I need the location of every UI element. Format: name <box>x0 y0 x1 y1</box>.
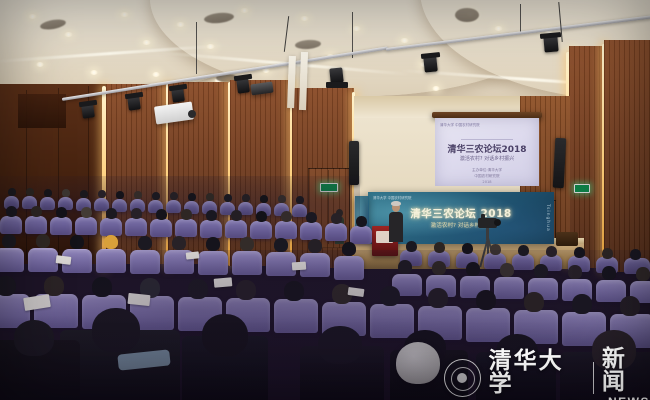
audience-head <box>156 209 167 220</box>
truss-hanger-rope <box>196 22 197 74</box>
handout-paper <box>214 277 233 288</box>
audience-head <box>500 263 514 277</box>
audience-head <box>70 235 84 249</box>
audience-head <box>236 280 256 300</box>
seat <box>166 200 181 213</box>
downlight <box>142 40 151 45</box>
exit-sign-icon <box>320 183 338 192</box>
audience-head <box>104 235 118 249</box>
audience-foreground-head <box>14 320 54 356</box>
audience-head <box>26 188 34 196</box>
handout-paper <box>56 255 72 265</box>
audience-head <box>602 248 613 259</box>
downlight <box>206 44 215 49</box>
seat <box>40 197 55 210</box>
audience-head <box>92 277 112 297</box>
seat <box>0 248 24 272</box>
audience-head <box>240 237 254 251</box>
seat <box>50 217 72 235</box>
audience-head <box>188 193 196 201</box>
projector-lens-icon <box>188 110 196 118</box>
audience-head <box>81 207 92 218</box>
audience-white-hood <box>396 342 440 384</box>
seat <box>350 226 372 244</box>
seat <box>75 217 97 235</box>
screen-subtitle: 激活农村? 对话乡村振兴 <box>435 155 539 162</box>
downlight <box>352 26 361 31</box>
audience-foreground-head <box>592 330 636 370</box>
audience-head <box>380 286 400 306</box>
audience-head <box>224 194 232 202</box>
audience-head <box>432 261 446 275</box>
seat <box>175 219 197 237</box>
audience-head <box>256 211 267 222</box>
audience-head <box>8 188 16 196</box>
audience-head <box>106 208 117 219</box>
downlight <box>120 12 129 17</box>
video-camera-lens-icon <box>494 219 501 226</box>
pa-speaker <box>349 141 359 185</box>
audience-head <box>296 196 304 204</box>
ceiling-vent <box>455 8 479 22</box>
audience-head <box>574 247 585 258</box>
audience-head <box>524 292 544 312</box>
downlight <box>176 22 185 27</box>
audience-head <box>44 276 64 296</box>
handout-paper <box>127 293 150 306</box>
audience-head <box>534 264 548 278</box>
downlight <box>300 16 309 21</box>
audience-head <box>636 267 650 281</box>
audience-head <box>31 206 42 217</box>
seat <box>250 221 272 239</box>
audience-head <box>138 236 152 250</box>
spotlight-barndoor <box>326 82 348 88</box>
seat <box>300 222 322 240</box>
audience-head <box>172 236 186 250</box>
audience-foreground-head <box>92 308 140 352</box>
audience-head <box>188 279 208 299</box>
audience-head <box>170 192 178 200</box>
screen-rule <box>461 139 513 140</box>
downlight <box>28 14 37 19</box>
seat <box>25 216 47 234</box>
seat <box>130 250 160 274</box>
audience-head <box>342 242 356 256</box>
audience-head <box>98 190 106 198</box>
audience-head <box>242 194 250 202</box>
audience-head <box>398 260 412 274</box>
exit-sign-icon <box>574 184 590 193</box>
audience-head <box>0 276 16 296</box>
seat <box>100 218 122 236</box>
screen-footer-line-1: 主办单位:清华大学 <box>435 168 539 173</box>
audience-head <box>434 242 445 253</box>
seat <box>0 216 22 234</box>
audience-head <box>331 213 342 224</box>
seat <box>325 223 347 241</box>
audience-head <box>62 189 70 197</box>
audience-head <box>36 234 50 248</box>
screen-footer-line-2: 中国农村研究院 <box>435 174 539 179</box>
audience-head <box>56 207 67 218</box>
audience-head <box>428 288 448 308</box>
audience-head <box>568 265 582 279</box>
audience-head <box>620 296 640 316</box>
audience-head <box>308 239 322 253</box>
audience-head <box>131 208 142 219</box>
audience-head <box>152 192 160 200</box>
downlight <box>64 32 73 37</box>
seat <box>494 277 524 299</box>
audience-head <box>274 238 288 252</box>
audience-head <box>80 190 88 198</box>
audience-head <box>476 290 496 310</box>
auditorium-photo: 清华大学 中国农村研究院 清华三农论坛2018 激活农村? 对话乡村振兴 主办单… <box>0 0 650 400</box>
seat <box>334 256 364 280</box>
downlight <box>432 86 440 91</box>
audience-head <box>44 189 52 197</box>
seat <box>275 221 297 239</box>
banner-logo-text: 清华大学 中国农村研究院 <box>373 195 411 200</box>
downlight <box>152 72 160 77</box>
screen-corner-text: 清华大学 中国农村研究院 <box>440 123 480 128</box>
downlight <box>240 8 249 13</box>
seat <box>274 299 318 333</box>
speaker-body <box>389 212 403 242</box>
audience-foreground-head <box>496 334 538 370</box>
downlight <box>36 62 44 67</box>
seat <box>150 219 172 237</box>
audience-head <box>2 234 16 248</box>
truss-hanger-rope <box>520 4 521 34</box>
handout-paper <box>186 251 200 259</box>
seat <box>96 249 126 273</box>
seat <box>292 204 307 217</box>
audience-head <box>116 191 124 199</box>
wall-wood-panel <box>604 40 650 272</box>
audience-head <box>260 195 268 203</box>
seat <box>200 220 222 238</box>
seat <box>198 251 228 275</box>
audience-head <box>572 294 592 314</box>
audience-head <box>466 262 480 276</box>
audience-head <box>490 244 501 255</box>
tripod-column <box>486 228 489 240</box>
audience-head <box>306 212 317 223</box>
wall-recess-left <box>18 94 66 128</box>
handout-paper <box>292 262 307 271</box>
audience-head <box>630 249 641 260</box>
audience-head <box>278 195 286 203</box>
video-camera-viewfinder <box>481 214 485 219</box>
seat <box>512 254 534 270</box>
seat <box>125 218 147 236</box>
audience-head <box>6 206 17 217</box>
audience-head <box>602 266 616 280</box>
audience-head <box>134 191 142 199</box>
seat <box>28 248 58 272</box>
screen-footer-line-3: 2018 <box>435 180 539 184</box>
audience-head <box>281 211 292 222</box>
banner-side-text: Tsinghua <box>545 204 550 232</box>
downlight <box>90 70 98 75</box>
speaker-hair <box>391 201 401 206</box>
screen-title: 清华三农论坛2018 <box>435 142 539 155</box>
audience-head <box>546 246 557 257</box>
audience-foreground-head <box>318 326 362 364</box>
seat <box>232 251 262 275</box>
audience-head <box>181 209 192 220</box>
seat <box>225 220 247 238</box>
audience-head <box>206 193 214 201</box>
audience-head <box>518 245 529 256</box>
stage-side-table <box>556 232 578 246</box>
audience-head <box>356 216 367 227</box>
audience-head <box>206 237 220 251</box>
audience-head <box>462 243 473 254</box>
audience-head <box>231 210 242 221</box>
projection-screen: 清华大学 中国农村研究院 清华三农论坛2018 激活农村? 对话乡村振兴 主办单… <box>435 118 539 186</box>
audience-head <box>206 210 217 221</box>
seat <box>370 304 414 338</box>
audience-head <box>284 281 304 301</box>
downlight <box>494 26 503 31</box>
audience-foreground-head <box>202 314 248 356</box>
audience-head <box>406 241 417 252</box>
downlight <box>400 38 409 43</box>
